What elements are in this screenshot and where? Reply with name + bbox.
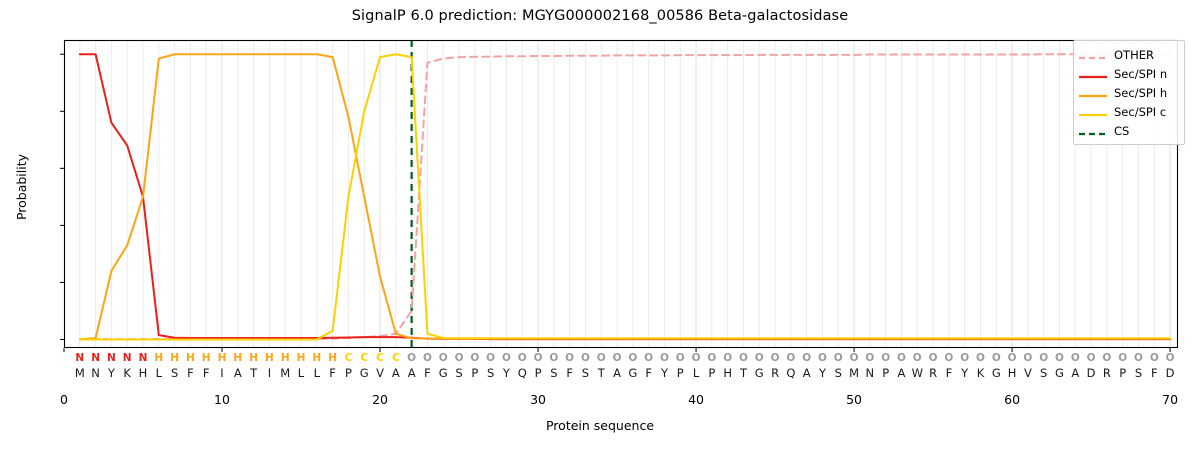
legend-swatch-icon xyxy=(1078,106,1108,118)
x-tick-0: 0 xyxy=(34,392,94,407)
legend-swatch-icon xyxy=(1078,125,1108,137)
region-label: O xyxy=(1159,352,1181,365)
x-tick-50: 50 xyxy=(824,392,884,407)
legend-label: Sec/SPI c xyxy=(1114,106,1166,118)
x-tick-60: 60 xyxy=(982,392,1042,407)
legend-item-cs[interactable]: CS xyxy=(1078,121,1179,140)
legend-item-sec-spi-n[interactable]: Sec/SPI n xyxy=(1078,64,1179,83)
x-tick-20: 20 xyxy=(350,392,410,407)
legend-swatch-icon xyxy=(1078,68,1108,80)
legend-swatch-icon xyxy=(1078,49,1108,61)
chart-legend: OTHERSec/SPI nSec/SPI hSec/SPI cCS xyxy=(1073,40,1185,145)
chart-canvas xyxy=(64,40,1178,348)
legend-item-other[interactable]: OTHER xyxy=(1078,45,1179,64)
legend-item-sec-spi-h[interactable]: Sec/SPI h xyxy=(1078,83,1179,102)
legend-swatch-icon xyxy=(1078,87,1108,99)
protein-sequence-track: NMNNNYNKNHHLHSHFHFHIHAHTHIHMHLHLHFCPCGCV… xyxy=(64,352,1178,386)
x-tick-30: 30 xyxy=(508,392,568,407)
x-tick-40: 40 xyxy=(666,392,726,407)
legend-item-sec-spi-c[interactable]: Sec/SPI c xyxy=(1078,102,1179,121)
x-tick-70: 70 xyxy=(1140,392,1200,407)
x-tick-10: 10 xyxy=(192,392,252,407)
legend-label: Sec/SPI n xyxy=(1114,68,1167,80)
legend-label: Sec/SPI h xyxy=(1114,87,1167,99)
plot-area xyxy=(64,40,1178,348)
amino-acid-letter: D xyxy=(1159,365,1181,381)
legend-label: OTHER xyxy=(1114,49,1154,61)
sequence-residue: OD xyxy=(1159,352,1181,381)
legend-label: CS xyxy=(1114,125,1129,137)
signalp-prediction-figure: SignalP 6.0 prediction: MGYG000002168_00… xyxy=(0,0,1200,450)
